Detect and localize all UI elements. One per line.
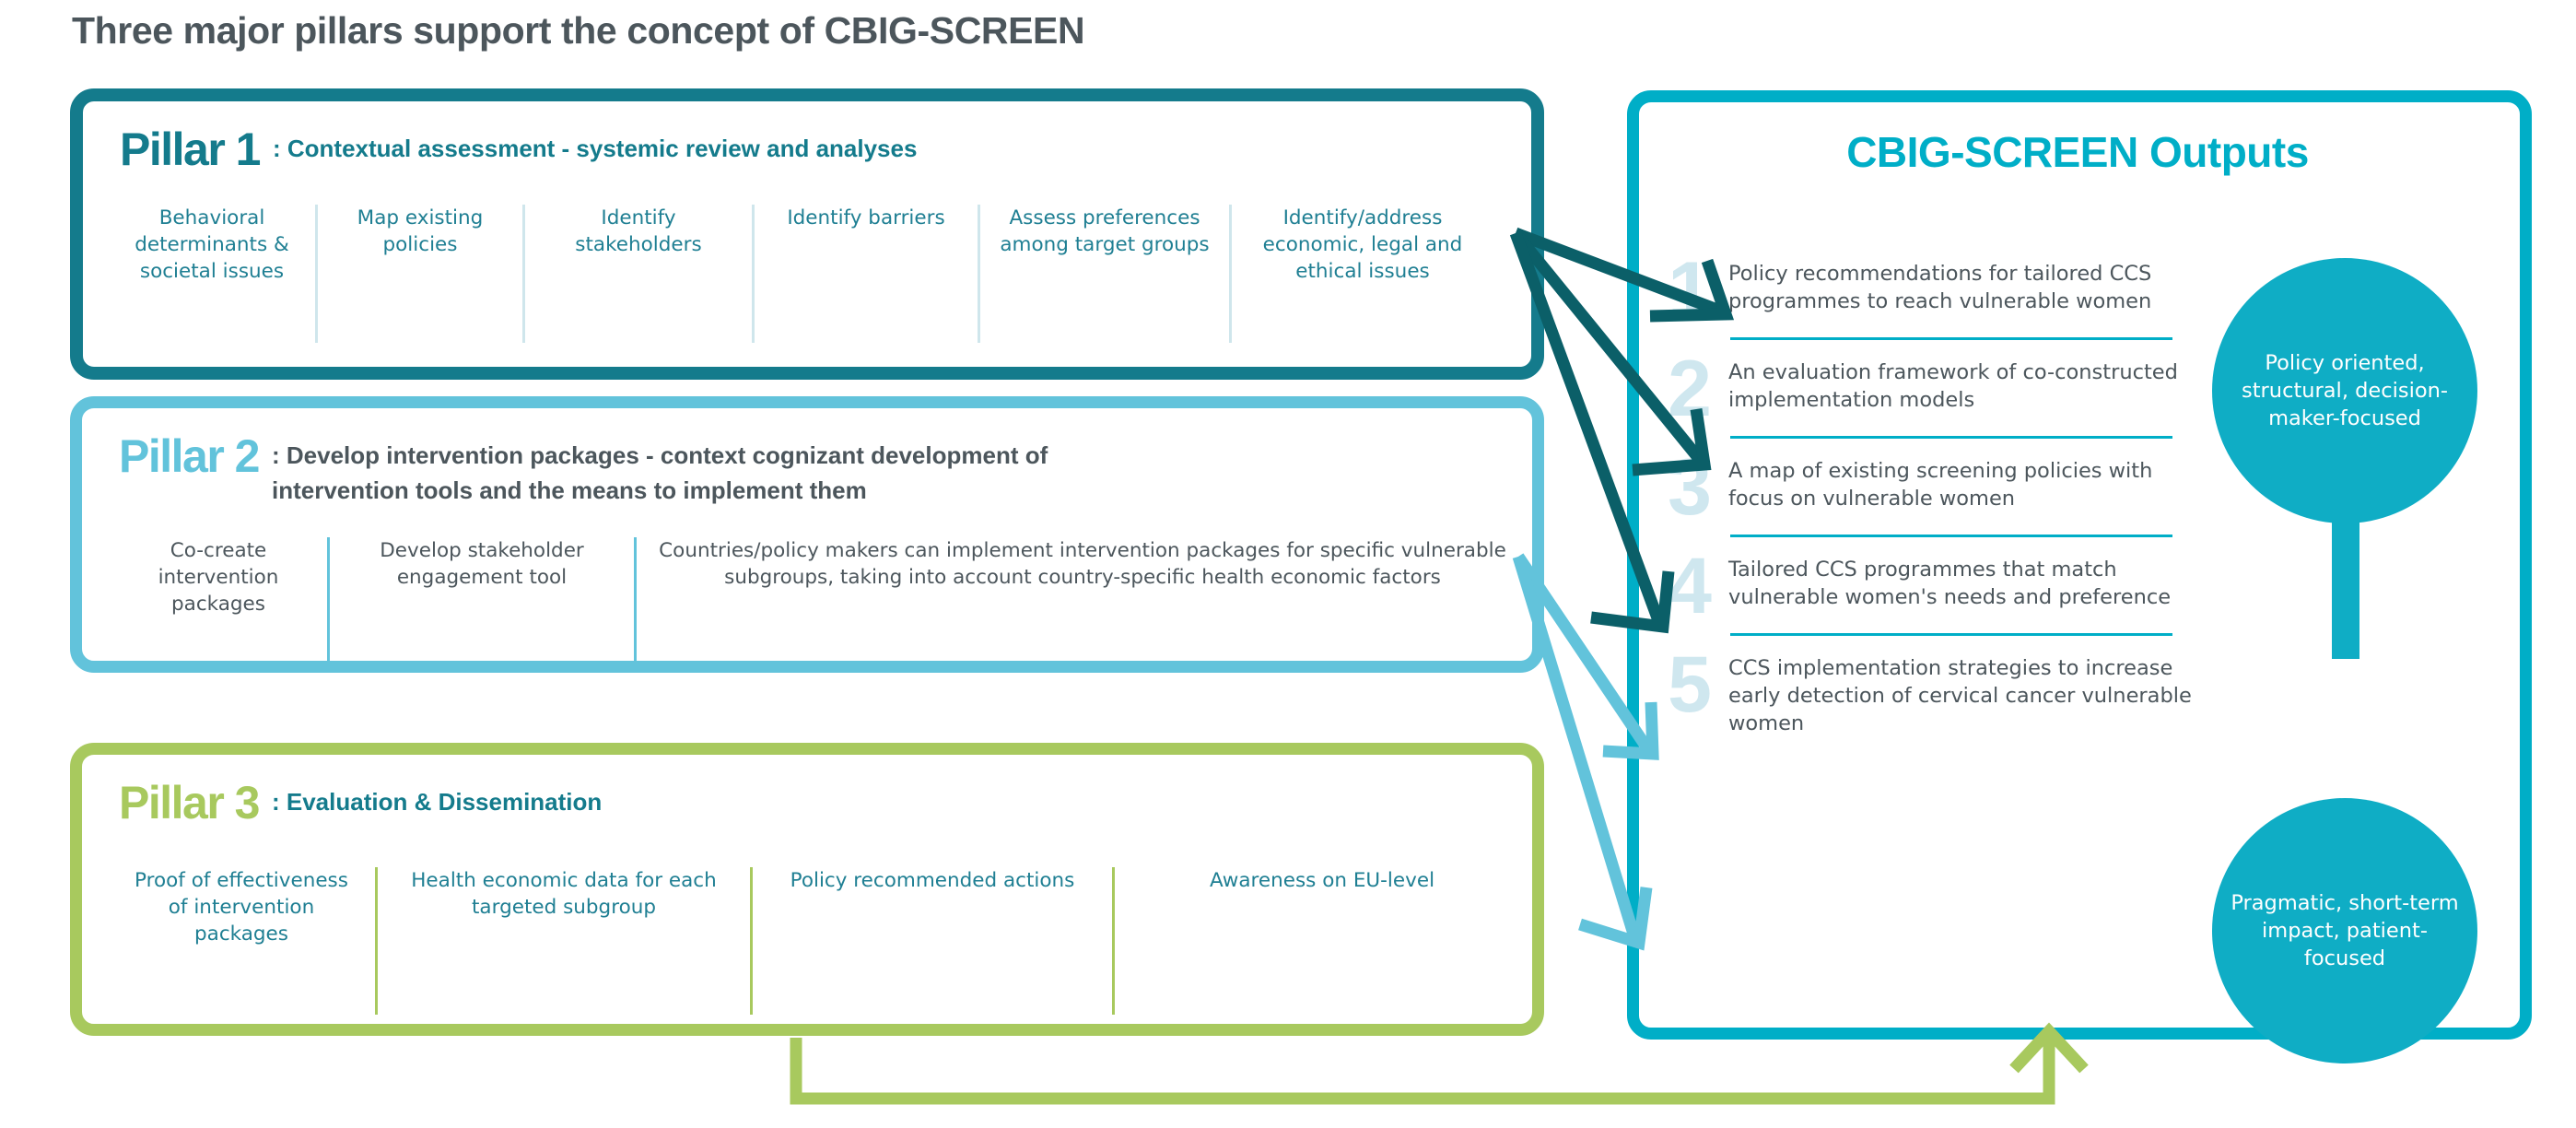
pillar-2-columns: Co-create intervention packages Develop …	[110, 537, 1528, 666]
pillar-1-column-label: Identify stakeholders	[542, 205, 735, 258]
circle-pragmatic: Pragmatic, short-term impact, patient-fo…	[2212, 798, 2477, 1063]
circle-policy-oriented: Policy oriented, structural, decision-ma…	[2212, 258, 2477, 523]
pillar-3-number: Pillar 3	[119, 775, 259, 830]
path-pillar3-to-outputs	[796, 1033, 2049, 1099]
pillar-2-column: Develop stakeholder engagement tool	[330, 537, 634, 666]
output-item-5: 5 CCS implementation strategies to incre…	[1649, 649, 2202, 737]
pillar-1-subtitle: : Contextual assessment - systemic revie…	[273, 122, 917, 166]
pillar-3-column-label: Policy recommended actions	[790, 867, 1075, 894]
output-divider	[1730, 337, 2172, 340]
pillar-1-column-label: Behavioral determinants & societal issue…	[125, 205, 299, 285]
pillar-2-card: Pillar 2 : Develop intervention packages…	[70, 396, 1544, 673]
output-item-3: 3 A map of existing screening policies w…	[1649, 452, 2202, 523]
pillar-3-column-label: Health economic data for each targeted s…	[394, 867, 733, 921]
output-text: CCS implementation strategies to increas…	[1728, 649, 2202, 737]
circle-connector-bar	[2332, 502, 2359, 659]
pillar3-connector-group	[796, 1031, 2084, 1099]
output-number: 2	[1649, 353, 1728, 425]
pillar-1-column: Assess preferences among target groups	[980, 205, 1229, 343]
pillar-2-column-label: Develop stakeholder engagement tool	[346, 537, 617, 591]
output-number: 4	[1649, 550, 1728, 622]
pillar-2-number: Pillar 2	[119, 429, 259, 484]
pillar-3-column-label: Awareness on EU-level	[1210, 867, 1434, 894]
output-item-1: 1 Policy recommendations for tailored CC…	[1649, 254, 2202, 326]
pillar-1-column: Map existing policies	[318, 205, 522, 343]
pillar-1-column: Identify stakeholders	[525, 205, 752, 343]
pillar-3-column: Awareness on EU-level	[1115, 867, 1529, 1015]
output-divider	[1730, 633, 2172, 636]
output-text: An evaluation framework of co-constructe…	[1728, 353, 2202, 414]
outputs-list: 1 Policy recommendations for tailored CC…	[1649, 254, 2202, 737]
pillar-2-column-label: Countries/policy makers can implement in…	[653, 537, 1512, 591]
output-text: Policy recommendations for tailored CCS …	[1728, 254, 2202, 315]
pillar-1-column-label: Identify barriers	[787, 205, 944, 231]
pillar-3-columns: Proof of effectiveness of intervention p…	[108, 867, 1532, 1015]
output-text: Tailored CCS programmes that match vulne…	[1728, 550, 2202, 611]
pillar-3-column: Proof of effectiveness of intervention p…	[108, 867, 375, 1015]
pillar-1-column: Identify/address economic, legal and eth…	[1232, 205, 1493, 343]
circle-label: Policy oriented, structural, decision-ma…	[2230, 349, 2460, 432]
circle-label: Pragmatic, short-term impact, patient-fo…	[2226, 889, 2464, 972]
pillar-3-column: Health economic data for each targeted s…	[378, 867, 750, 1015]
pillar-1-columns: Behavioral determinants & societal issue…	[109, 205, 1533, 343]
page-title: Three major pillars support the concept …	[72, 6, 1546, 55]
output-number: 3	[1649, 452, 1728, 523]
pillar-2-column: Co-create intervention packages	[110, 537, 327, 666]
output-number: 1	[1649, 254, 1728, 326]
pillar-3-card: Pillar 3 : Evaluation & Dissemination Pr…	[70, 743, 1544, 1036]
outputs-panel-title: CBIG-SCREEN Outputs	[1649, 127, 2506, 177]
output-number: 5	[1649, 649, 1728, 721]
pillar-3-column: Policy recommended actions	[753, 867, 1112, 1015]
pillar-2-header: Pillar 2 : Develop intervention packages…	[119, 429, 1048, 508]
pillar-1-number: Pillar 1	[120, 122, 260, 177]
pillar-2-column: Countries/policy makers can implement in…	[637, 537, 1528, 666]
output-text: A map of existing screening policies wit…	[1728, 452, 2202, 512]
output-divider	[1730, 436, 2172, 439]
pillar-3-column-label: Proof of effectiveness of intervention p…	[124, 867, 358, 947]
pillar-1-column: Identify barriers	[755, 205, 978, 343]
pillar-3-subtitle: : Evaluation & Dissemination	[272, 775, 602, 819]
pillar-2-column-label: Co-create intervention packages	[126, 537, 310, 617]
output-item-4: 4 Tailored CCS programmes that match vul…	[1649, 550, 2202, 622]
output-item-2: 2 An evaluation framework of co-construc…	[1649, 353, 2202, 425]
pillar-1-header: Pillar 1 : Contextual assessment - syste…	[120, 122, 917, 177]
pillar-1-card: Pillar 1 : Contextual assessment - syste…	[70, 88, 1544, 380]
pillar-1-column-label: Assess preferences among target groups	[997, 205, 1212, 258]
pillar-1-column: Behavioral determinants & societal issue…	[109, 205, 315, 343]
output-divider	[1730, 535, 2172, 537]
pillar-3-header: Pillar 3 : Evaluation & Dissemination	[119, 775, 602, 830]
pillar-2-subtitle: : Develop intervention packages - contex…	[272, 429, 1048, 508]
pillar-1-column-label: Map existing policies	[334, 205, 506, 258]
pillar-1-column-label: Identify/address economic, legal and eth…	[1248, 205, 1477, 285]
